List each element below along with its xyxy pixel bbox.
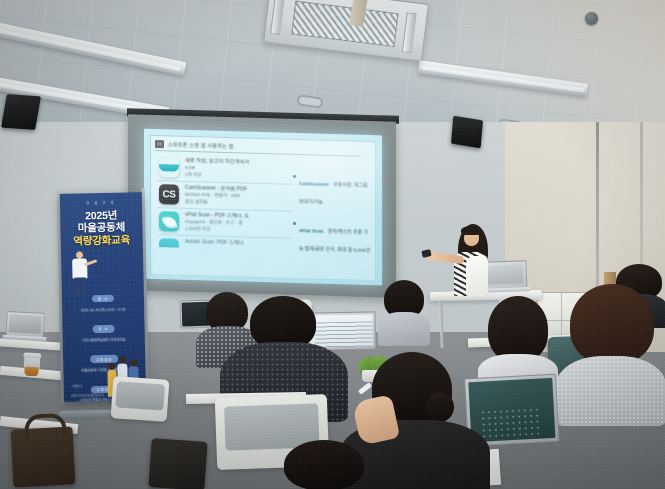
app-icon-camscanner: CS bbox=[159, 184, 179, 205]
classroom-photo: 01 스마트폰 스캔 앱 사용하는 법 세로 작성, 문고의 자간계속서 4.6… bbox=[0, 0, 665, 489]
ac-grille bbox=[291, 1, 398, 47]
slide-badge: 01 bbox=[155, 140, 164, 148]
app-icon-generic bbox=[159, 157, 179, 178]
app-list: 세로 작성, 문고의 자간계속서 4.6★ 1억 이상 CS CamScanne… bbox=[157, 154, 293, 276]
ac-vane bbox=[402, 12, 417, 53]
slide-content: 01 스마트폰 스캔 앱 사용하는 법 세로 작성, 문고의 자간계속서 4.6… bbox=[150, 135, 376, 281]
attendee-hair bbox=[570, 284, 654, 364]
laptop-lid bbox=[6, 311, 45, 338]
app-text: 세로 작성, 문고의 자간계속서 4.6★ 1억 이상 bbox=[185, 158, 293, 181]
chair bbox=[111, 376, 170, 422]
camscanner-icon-label: CS bbox=[163, 189, 176, 200]
attendee bbox=[378, 280, 430, 342]
banner-value: 2025. 06. 05.(목) 14:00 - 17:30 bbox=[62, 307, 144, 313]
banner-label: 일 시 bbox=[92, 295, 114, 303]
banner-title-line-3: 역량강화교육 bbox=[61, 234, 143, 248]
vflat-pages-icon bbox=[162, 216, 176, 226]
list-item: vFlat Scan - PDF 스캐너, 도 VoyagerX · 생산성 ·… bbox=[157, 208, 293, 239]
app-text: Adobe Scan: PDF 스캐너 bbox=[185, 239, 293, 249]
ceiling bbox=[0, 0, 665, 132]
list-item: 세로 작성, 문고의 자간계속서 4.6★ 1억 이상 bbox=[157, 154, 293, 185]
app-icon-adobescan bbox=[159, 238, 179, 259]
note-title: CamScanner bbox=[299, 182, 329, 188]
ac-vane bbox=[270, 0, 285, 35]
cup-liquid bbox=[24, 367, 38, 377]
slide-notes: CamScanner 무료사용, 워그룹 보내기/가능 vFlat Scan 문… bbox=[293, 172, 371, 268]
attendee-shoulders bbox=[378, 312, 430, 346]
banner-signature: 이천시 bbox=[72, 384, 82, 389]
note-title: vFlat Scan bbox=[299, 229, 323, 235]
list-item: vFlat Scan 문자/텍스트 추출 기능 탑재/글로 인식, 최대 월 5… bbox=[293, 219, 371, 257]
app-text: CamScanner - 문서를 PDF INTSIG PTE · 변환기 · … bbox=[185, 185, 293, 208]
handbag-icon bbox=[11, 426, 76, 487]
app-icon-shape bbox=[159, 164, 179, 172]
banner-organizer: 이천시지속가능발전협의회 bbox=[71, 393, 104, 398]
presenter-hair-front bbox=[461, 226, 481, 235]
backpack-icon bbox=[148, 438, 207, 489]
app-icon-vflat bbox=[159, 211, 179, 232]
banner-label: 장 소 bbox=[92, 325, 114, 333]
presenter-shirt bbox=[466, 256, 488, 296]
pen-icon bbox=[358, 382, 372, 395]
app-text: vFlat Scan - PDF 스캐너, 도 VoyagerX · 생산성 ·… bbox=[185, 212, 293, 235]
cup-lid bbox=[23, 353, 41, 359]
list-item: Adobe Scan: PDF 스캐너 bbox=[157, 235, 293, 265]
coffee-cup-icon bbox=[23, 352, 40, 374]
illustration-body bbox=[72, 258, 87, 278]
laptop-screen bbox=[9, 314, 42, 334]
banner-title: 2025년 마을공동체 역량강화교육 bbox=[60, 209, 143, 248]
sprinkler-head-icon bbox=[585, 12, 598, 25]
attendee-laptop bbox=[5, 311, 45, 343]
attendee-hair bbox=[488, 296, 548, 362]
slide-title: 스마트폰 스캔 앱 사용하는 법 bbox=[168, 141, 234, 150]
attendee-shoulders bbox=[556, 356, 665, 426]
presenter bbox=[440, 224, 502, 296]
app-icon-shape bbox=[159, 238, 179, 248]
wall-speaker-icon bbox=[1, 94, 41, 130]
attendee-hair-bun bbox=[426, 392, 454, 422]
ceiling-light-wash bbox=[455, 0, 665, 132]
list-item: CS CamScanner - 문서를 PDF INTSIG PTE · 변환기… bbox=[157, 181, 293, 212]
attendee-hair bbox=[284, 440, 364, 489]
list-item: CamScanner 무료사용, 워그룹 보내기/가능 bbox=[293, 172, 371, 210]
attendee bbox=[284, 440, 394, 489]
projection-screen: 01 스마트폰 스캔 앱 사용하는 법 세로 작성, 문고의 자간계속서 4.6… bbox=[128, 114, 396, 297]
app-name: Adobe Scan: PDF 스캐너 bbox=[185, 239, 293, 249]
wall-speaker-icon bbox=[451, 116, 483, 149]
banner-face: 마 을 교 육 2025년 마을공동체 역량강화교육 일 시 2025. 06.… bbox=[60, 192, 146, 402]
projected-slide: 01 스마트폰 스캔 앱 사용하는 법 세로 작성, 문고의 자간계속서 4.6… bbox=[144, 129, 382, 286]
chair-pad bbox=[116, 381, 165, 410]
attendee bbox=[556, 284, 665, 412]
banner-value: 이천시평생학습센터 지하강의실 bbox=[63, 337, 145, 343]
